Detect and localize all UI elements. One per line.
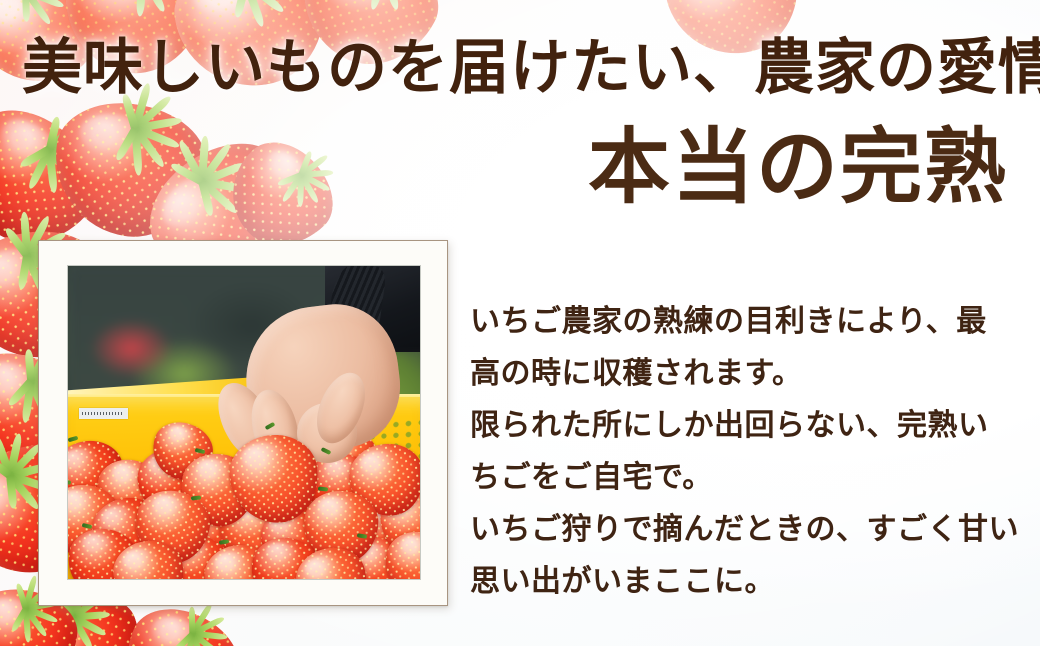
body-line-3: 限られた所にしか出回らない、完熟い: [470, 400, 1030, 452]
body-line-6: 思い出がいまここに。: [470, 556, 1030, 608]
body-line-1: いちご農家の熟練の目利きにより、最: [470, 296, 1030, 348]
banner-canvas: 美味しいものを届けたい、農家の愛情 本当の完熟: [0, 0, 1040, 646]
body-copy: いちご農家の熟練の目利きにより、最 高の時に収穫されます。 限られた所にしか出回…: [470, 296, 1030, 608]
strawberry-stem: [318, 486, 328, 491]
subheadline: 本当の完熟: [588, 122, 1008, 214]
headline: 美味しいものを届けたい、農家の愛情: [22, 36, 1022, 100]
body-line-4: ちごをご自宅で。: [470, 452, 1030, 504]
body-line-2: 高の時に収穫されます。: [470, 348, 1030, 400]
crate-label: [79, 408, 128, 419]
photo-frame: [38, 240, 448, 606]
body-line-5: いちご狩りで摘んだときの、すごく甘い: [470, 504, 1030, 556]
strawberry-harvest-photo: [68, 266, 420, 579]
